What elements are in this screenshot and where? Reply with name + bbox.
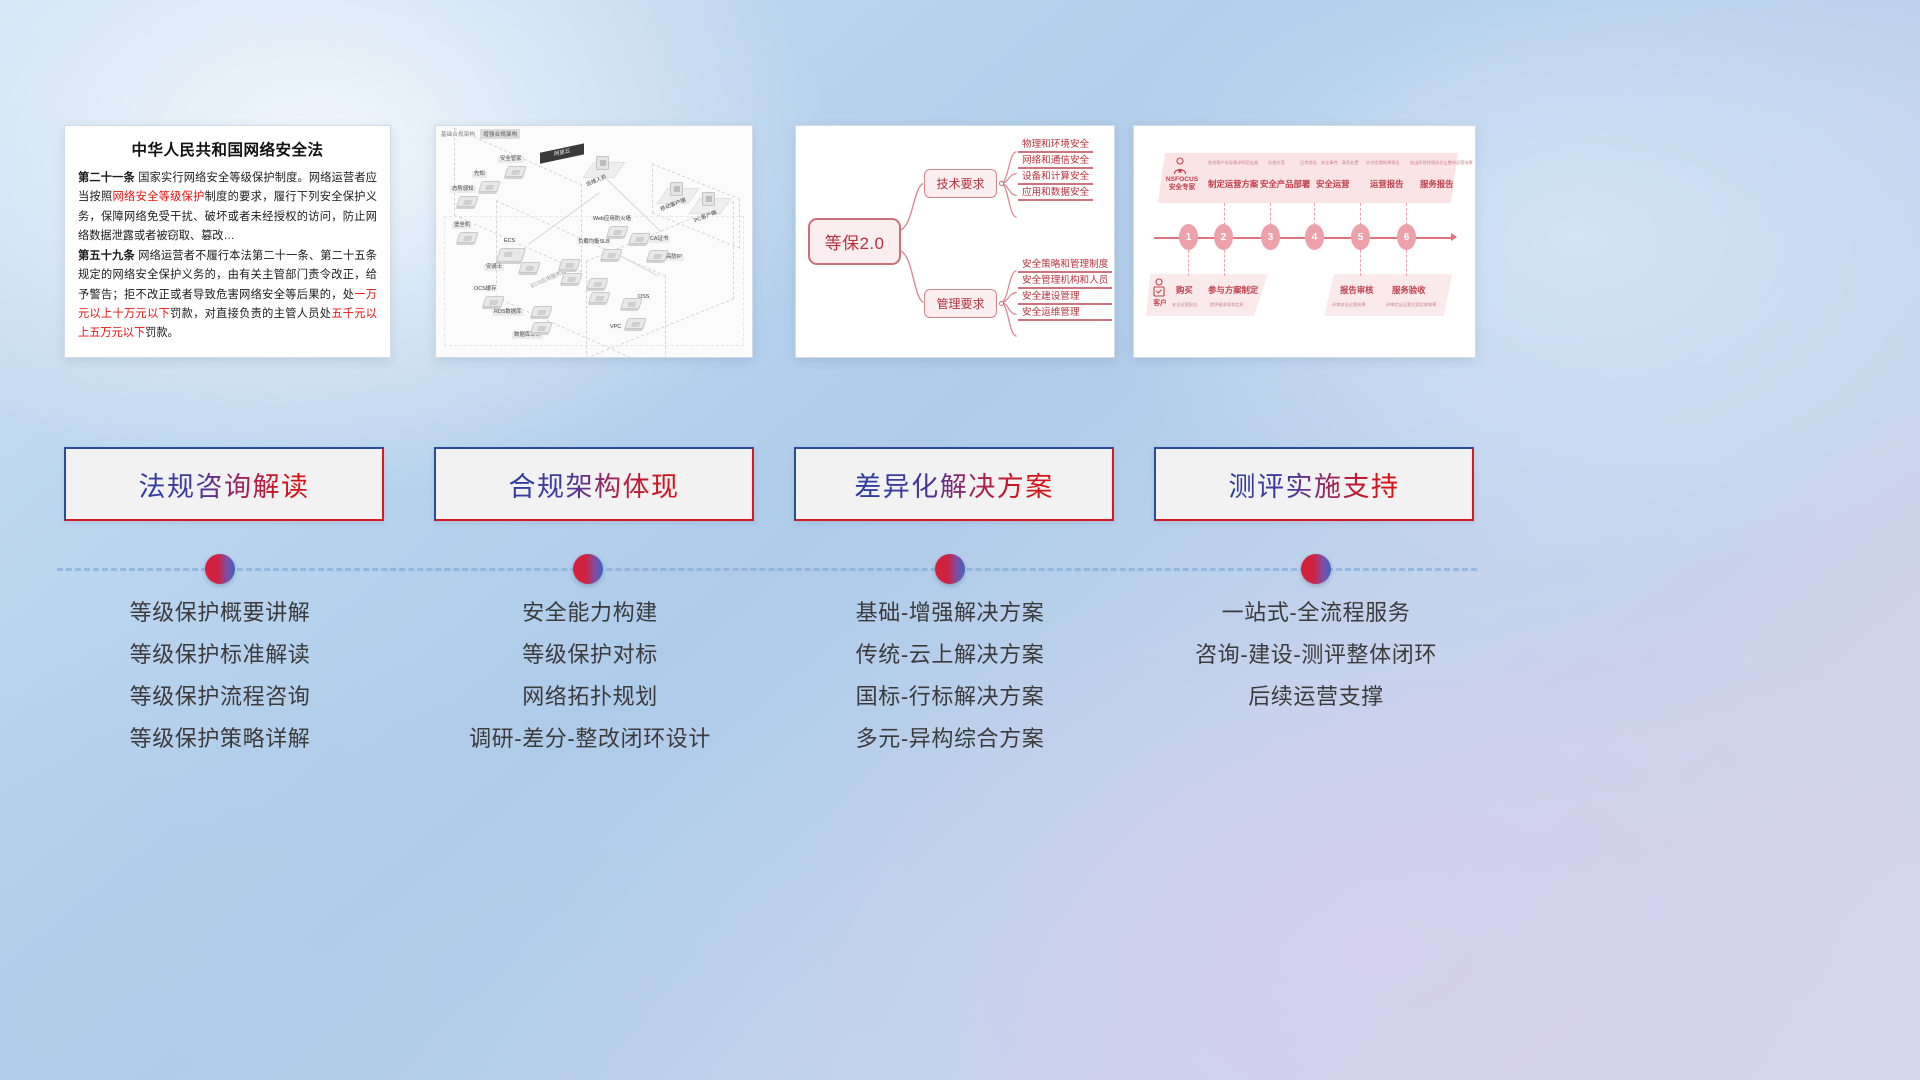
detail-item: 咨询-建设-测评整体闭环 (1136, 644, 1496, 666)
mindmap-leaf: 安全建设管理 (1018, 291, 1112, 305)
step-subtitle: 实施方案 (1268, 160, 1285, 166)
leaf-label: 设备和计算安全 (1022, 171, 1089, 183)
label-slb: 负载均衡SLB (576, 239, 612, 246)
leaf-label: 应用和数据安全 (1022, 187, 1089, 199)
step-title: 服务验收 (1392, 284, 1426, 296)
person-check-icon (1152, 278, 1166, 298)
icon-situational-awareness (456, 196, 479, 207)
label-security-butler: 安全管家 (498, 156, 524, 163)
preview-card-architecture[interactable]: 基础合规架构增强合规架构 阿里云 态势感知 先知 安全管家 堡垒机 (435, 125, 753, 358)
icon-security-knight (518, 262, 541, 273)
icon-ca-certificate (628, 233, 651, 244)
detail-column-1: 等级保护概要讲解 等级保护标准解读 等级保护流程咨询 等级保护策略详解 (40, 602, 400, 770)
mindmap-leaves-management: 安全策略和管理制度 安全管理机构和人员 安全建设管理 安全运维管理 (1018, 259, 1112, 323)
person-star-icon (1172, 157, 1188, 175)
detail-item: 传统-云上解决方案 (770, 644, 1130, 666)
mindmap-branch-technical: 技术要求 (924, 169, 997, 198)
law-article-59-label: 第五十九条 (78, 250, 135, 262)
section-titles-row: 法规咨询解读 合规架构体现 差异化解决方案 测评实施支持 (0, 447, 1920, 521)
law-article-59: 第五十九条 网络运营者不履行本法第二十一条、第二十五条规定的网络安全保护义务的，… (78, 247, 377, 343)
mindmap-leaf: 安全策略和管理制度 (1018, 259, 1112, 273)
law-document: 中华人民共和国网络安全法 第二十一条 国家实行网络安全等级保护制度。网络运营者应… (65, 126, 390, 351)
icon-awareness (478, 181, 501, 192)
law-article-21-highlight: 网络安全等级保护 (113, 191, 205, 203)
detail-item: 等级保护流程咨询 (40, 686, 400, 708)
step-title: 服务报告 (1420, 178, 1454, 190)
step-node-4[interactable]: 4 (1305, 224, 1324, 250)
icon-oss (620, 298, 643, 309)
section-title-label: 测评实施支持 (1229, 465, 1400, 504)
detail-item: 等级保护概要讲解 (40, 602, 400, 624)
detail-column-2: 安全能力构建 等级保护对标 网络拓扑规划 调研-差分-整改闭环设计 (410, 602, 770, 770)
connector-dash (1224, 203, 1225, 225)
mindmap-nub-management[interactable] (999, 301, 1004, 306)
connector-dash (1224, 250, 1225, 276)
step-title: 报告审核 (1340, 284, 1374, 296)
law-title: 中华人民共和国网络安全法 (78, 138, 377, 160)
icon-ocs-cache (482, 296, 505, 307)
detail-column-4: 一站式-全流程服务 咨询-建设-测评整体闭环 后续运营支撑 (1136, 602, 1496, 728)
mindmap-leaf: 应用和数据安全 (1018, 187, 1093, 201)
timeline-track (0, 545, 1920, 595)
law-article-59-text-3: 罚款。 (145, 327, 179, 339)
leaf-label: 网络和通信安全 (1022, 155, 1089, 167)
label-awareness: 先知 (472, 171, 487, 178)
label-waf: Web应用防火墙 (591, 216, 633, 223)
timeline-arrow-icon (1451, 233, 1457, 241)
connector-dash (1406, 250, 1407, 276)
icon-database-audit (530, 322, 553, 333)
detail-columns-row: 等级保护概要讲解 等级保护标准解读 等级保护流程咨询 等级保护策略详解 安全能力… (0, 602, 1920, 802)
label-vpc: VPC (608, 324, 623, 331)
leaf-label: 安全运维管理 (1022, 307, 1108, 319)
cloud-architecture-diagram: 基础合规架构增强合规架构 阿里云 态势感知 先知 安全管家 堡垒机 (436, 126, 752, 357)
preview-card-law[interactable]: 中华人民共和国网络安全法 第二十一条 国家实行网络安全等级保护制度。网络运营者应… (64, 125, 391, 358)
slide-canvas: 中华人民共和国网络安全法 第二十一条 国家实行网络安全等级保护制度。网络运营者应… (0, 0, 1920, 1080)
detail-item: 基础-增强解决方案 (770, 602, 1130, 624)
label-ca-certificate: CA证书 (648, 236, 670, 243)
mindmap-leaf: 网络和通信安全 (1018, 155, 1093, 169)
mindmap-leaves-technical: 物理和环境安全 网络和通信安全 设备和计算安全 应用和数据安全 (1018, 139, 1093, 203)
detail-column-3: 基础-增强解决方案 传统-云上解决方案 国标-行标解决方案 多元-异构综合方案 (770, 602, 1130, 770)
timeline-node-2[interactable] (573, 554, 603, 584)
section-title-box-3[interactable]: 差异化解决方案 (794, 447, 1114, 521)
customer-role-label: 客户 (1148, 300, 1172, 308)
icon-mobile-client (670, 182, 683, 196)
timeline-dashed-line (57, 568, 1477, 571)
detail-item: 多元-异构综合方案 (770, 728, 1130, 750)
connector-dash (1188, 250, 1189, 276)
preview-card-mindmap[interactable]: 等保2.0 技术要求 物理和环境安全 网络和通信安全 设备和计算安全 应用和数据… (795, 125, 1115, 358)
icon-ecs-node-c (586, 278, 609, 289)
step-subtitle: 提供基本现状信息 (1210, 302, 1244, 308)
mindmap-nub-technical[interactable] (999, 181, 1004, 186)
expert-role-label: NSFOCUS 安全专家 (1160, 176, 1204, 192)
mindmap-leaf: 安全管理机构和人员 (1018, 275, 1112, 289)
connector-dash (1314, 203, 1315, 225)
icon-ecs (496, 248, 527, 262)
section-title-label: 法规咨询解读 (139, 465, 310, 504)
step-node-6[interactable]: 6 (1397, 224, 1416, 250)
preview-card-service-timeline[interactable]: NSFOCUS 安全专家 结合客户实际需求明后出具 制定运营方案 实施方案 安全… (1133, 125, 1476, 358)
detail-item: 一站式-全流程服务 (1136, 602, 1496, 624)
nsfocus-service-flow: NSFOCUS 安全专家 结合客户实际需求明后出具 制定运营方案 实施方案 安全… (1134, 126, 1475, 357)
timeline-node-4[interactable] (1301, 554, 1331, 584)
section-title-label: 差异化解决方案 (854, 465, 1054, 504)
detail-item: 等级保护策略详解 (40, 728, 400, 750)
step-node-5[interactable]: 5 (1351, 224, 1370, 250)
mindmap-root: 等保2.0 (808, 218, 901, 265)
detail-item: 等级保护标准解读 (40, 644, 400, 666)
label-security-knight: 安骑士 (484, 264, 504, 271)
mindmap-leaf: 物理和环境安全 (1018, 139, 1093, 153)
mindmap-leaf: 安全运维管理 (1018, 307, 1112, 321)
detail-item: 国标-行标解决方案 (770, 686, 1130, 708)
mindmap-leaf: 设备和计算安全 (1018, 171, 1093, 185)
icon-waf (606, 226, 629, 237)
step-subtitle: 给出阶段性服务总止整体运营效果 (1410, 160, 1473, 166)
timeline-node-1[interactable] (205, 554, 235, 584)
label-rds-database: RDS数据库 (492, 309, 524, 316)
law-article-21-label: 第二十一条 (78, 172, 135, 184)
step-title: 安全运营 (1316, 178, 1350, 190)
step-title: 安全产品部署 (1260, 178, 1310, 190)
leaf-label: 安全管理机构和人员 (1022, 275, 1108, 287)
step-subtitle: 针对定期效果报告 (1366, 160, 1400, 166)
detail-item: 调研-差分-整改闭环设计 (410, 728, 770, 750)
step-subtitle: 评审验证运营方案验收效果 (1386, 302, 1436, 308)
leaf-label: 物理和环境安全 (1022, 139, 1089, 151)
step-title: 参与方案制定 (1208, 284, 1258, 296)
step-subtitle: 日常巡检、安全事件、高危处置 (1300, 160, 1359, 166)
connector-dash (1360, 250, 1361, 276)
dengbao-mindmap: 等保2.0 技术要求 物理和环境安全 网络和通信安全 设备和计算安全 应用和数据… (796, 126, 1114, 357)
step-title: 运营报告 (1370, 178, 1404, 190)
step-subtitle: 评审安全运营效果 (1332, 302, 1366, 308)
law-article-21: 第二十一条 国家实行网络安全等级保护制度。网络运营者应当按照网络安全等级保护制度… (78, 169, 377, 246)
law-article-59-text-2: 罚款，对直接负责的主管人员处 (170, 308, 331, 320)
section-title-box-1[interactable]: 法规咨询解读 (64, 447, 384, 521)
timeline-node-3[interactable] (935, 554, 965, 584)
section-title-label: 合规架构体现 (509, 465, 680, 504)
section-title-box-4[interactable]: 测评实施支持 (1154, 447, 1474, 521)
icon-anti-ddos-ip (646, 250, 669, 261)
icon-security-butler (504, 166, 527, 177)
connector-dash (1270, 203, 1271, 225)
icon-vpc (624, 318, 647, 329)
connector-dash (1360, 203, 1361, 225)
icon-bastion-host (456, 232, 479, 243)
mindmap-branch-management: 管理要求 (924, 289, 997, 318)
detail-item: 网络拓扑规划 (410, 686, 770, 708)
label-ecs: ECS (502, 238, 517, 245)
step-title: 购买 (1176, 284, 1193, 296)
step-node-1[interactable]: 1 (1179, 224, 1198, 250)
connector-dash (1406, 203, 1407, 225)
expert-role-line1: NSFOCUS (1160, 176, 1204, 184)
detail-item: 等级保护对标 (410, 644, 770, 666)
step-title: 制定运营方案 (1208, 178, 1258, 190)
step-subtitle: 安全运营报告 (1172, 302, 1197, 308)
step-node-3[interactable]: 3 (1261, 224, 1280, 250)
icon-admin-terminal (596, 156, 609, 170)
icon-ecs-node-b (560, 273, 583, 284)
icon-rds-database (530, 306, 553, 317)
icon-ecs-node-a (558, 259, 581, 270)
icon-ecs-node-d (588, 292, 611, 303)
section-title-box-2[interactable]: 合规架构体现 (434, 447, 754, 521)
leaf-label: 安全策略和管理制度 (1022, 259, 1108, 271)
tab-enhanced-compliance[interactable]: 增强合规架构 (480, 129, 520, 139)
label-ocs-cache: OCS缓存 (472, 286, 498, 293)
expert-role-line2: 安全专家 (1160, 184, 1204, 192)
step-node-2[interactable]: 2 (1214, 224, 1233, 250)
icon-pc-client (702, 192, 715, 206)
preview-cards-row: 中华人民共和国网络安全法 第二十一条 国家实行网络安全等级保护制度。网络运营者应… (0, 125, 1920, 360)
step-subtitle: 结合客户实际需求明后出具 (1208, 160, 1258, 166)
leaf-label: 安全建设管理 (1022, 291, 1108, 303)
label-bastion-host: 堡垒机 (452, 222, 472, 229)
detail-item: 安全能力构建 (410, 602, 770, 624)
label-situational-awareness: 态势感知 (450, 186, 476, 193)
label-database-audit: 数据库审计 (512, 332, 543, 339)
detail-item: 后续运营支撑 (1136, 686, 1496, 708)
label-aliyun: 阿里云 (540, 143, 584, 164)
